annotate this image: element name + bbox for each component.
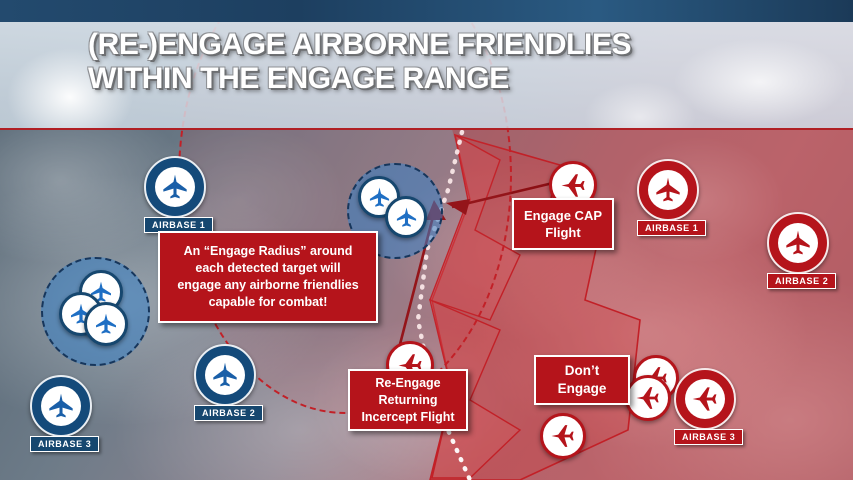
airbase-blue-3[interactable]: AIRBASE 3: [30, 375, 99, 452]
airbase-red-1[interactable]: AIRBASE 1: [637, 159, 706, 236]
jet-icon: [691, 385, 719, 413]
top-accent-band: [0, 0, 853, 22]
airbase-disc: [30, 375, 92, 437]
airbase-label: AIRBASE 3: [674, 429, 743, 445]
jet-icon: [395, 206, 418, 229]
airbase-disc: [144, 156, 206, 218]
blue-flight-icon[interactable]: [385, 196, 427, 238]
jet-icon: [635, 385, 661, 411]
airbase-label: AIRBASE 3: [30, 436, 99, 452]
callout-text: Re-Engage Returning Incercept Flight: [361, 375, 454, 426]
jet-icon: [94, 312, 118, 336]
blue-flight-icon[interactable]: [84, 302, 128, 346]
page-title: (RE-)ENGAGE AIRBORNE FRIENDLIES WITHIN T…: [88, 28, 788, 96]
airbase-disc: [637, 159, 699, 221]
slide-canvas: (RE-)ENGAGE AIRBORNE FRIENDLIES WITHIN T…: [0, 0, 853, 480]
jet-icon: [654, 176, 682, 204]
airbase-blue-1[interactable]: AIRBASE 1: [144, 156, 213, 233]
jet-icon: [47, 392, 75, 420]
airbase-disc: [674, 368, 736, 430]
jet-icon: [368, 186, 391, 209]
airbase-disc: [194, 344, 256, 406]
airbase-red-2[interactable]: AIRBASE 2: [767, 212, 836, 289]
callout-engage-cap-flight: Engage CAP Flight: [512, 198, 614, 250]
airbase-inner: [41, 386, 81, 426]
red-flight-icon[interactable]: [625, 375, 671, 421]
airbase-label: AIRBASE 2: [194, 405, 263, 421]
airbase-inner: [778, 223, 818, 263]
airbase-blue-2[interactable]: AIRBASE 2: [194, 344, 263, 421]
jet-icon: [211, 361, 239, 389]
jet-icon: [550, 423, 576, 449]
airbase-disc: [767, 212, 829, 274]
airbase-inner: [205, 355, 245, 395]
jet-icon: [784, 229, 812, 257]
jet-icon: [560, 172, 587, 199]
callout-text: Don’t Engage: [558, 362, 607, 398]
airbase-red-3[interactable]: AIRBASE 3: [674, 368, 743, 445]
callout-dont-engage: Don’t Engage: [534, 355, 630, 405]
airbase-inner: [155, 167, 195, 207]
callout-reengage-returning-intercept: Re-Engage Returning Incercept Flight: [348, 369, 468, 431]
airbase-label: AIRBASE 1: [637, 220, 706, 236]
callout-engage-radius: An “Engage Radius” around each detected …: [158, 231, 378, 323]
airbase-label: AIRBASE 2: [767, 273, 836, 289]
callout-text: Engage CAP Flight: [524, 207, 602, 241]
jet-icon: [161, 173, 189, 201]
banner-underline: [0, 128, 853, 130]
red-flight-icon[interactable]: [540, 413, 586, 459]
callout-text: An “Engage Radius” around each detected …: [177, 243, 358, 311]
airbase-inner: [685, 379, 725, 419]
airbase-inner: [648, 170, 688, 210]
